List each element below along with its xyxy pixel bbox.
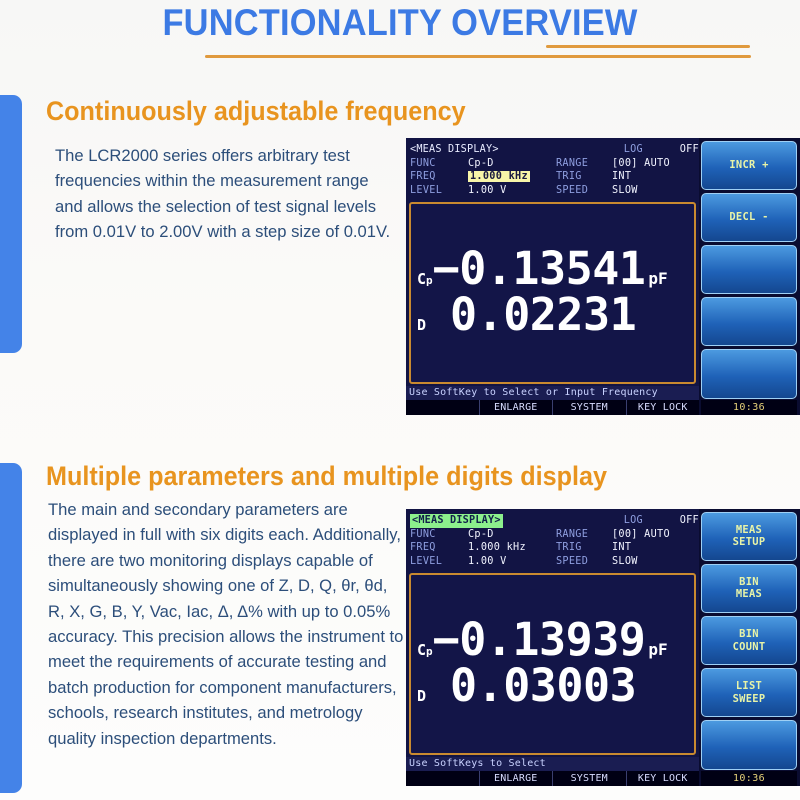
instrument-1-freq-value[interactable]: 1.000 kHz — [468, 171, 530, 182]
instrument-1-trig-value[interactable]: INT — [612, 170, 631, 184]
instrument-1-secondary-value: 0.02231 — [450, 290, 636, 340]
instrument-2-primary-unit: pF — [648, 640, 667, 659]
section-accent-bar-2 — [0, 463, 22, 793]
instrument-1-screen-title: <MEAS DISPLAY> — [410, 143, 499, 157]
instrument-1-trig-label: TRIG — [556, 170, 612, 184]
title-underline-short — [546, 45, 750, 48]
instrument-1-body: <MEAS DISPLAY> LOG OFF FUNC Cp-D RANGE [… — [406, 138, 800, 415]
instrument-2-secondary-value: 0.03003 — [450, 661, 636, 711]
section-2-body: The main and secondary parameters are di… — [48, 497, 408, 751]
instrument-1-speed-value[interactable]: SLOW — [612, 184, 638, 198]
instrument-2-softkey-5[interactable] — [701, 720, 797, 769]
instrument-2-speed-label: SPEED — [556, 555, 612, 569]
instrument-2-footer-system[interactable]: SYSTEM — [553, 771, 627, 786]
instrument-1-level-label: LEVEL — [410, 184, 468, 198]
slide-page: FUNCTIONALITY OVERVIEW Continuously adju… — [0, 0, 800, 800]
instrument-2-range-value[interactable]: [00] AUTO — [612, 528, 670, 542]
instrument-2-footer: ENLARGE SYSTEM KEY LOCK — [406, 771, 699, 786]
instrument-1-secondary-symbol: D — [417, 316, 426, 334]
instrument-2-trig-value[interactable]: INT — [612, 541, 631, 555]
instrument-2-log-label: LOG — [624, 514, 680, 528]
instrument-2-level-value[interactable]: 1.00 V — [468, 555, 556, 569]
instrument-2-body: <MEAS DISPLAY> LOG OFF FUNC Cp-D RANGE [… — [406, 509, 800, 786]
instrument-1-softkey-3[interactable] — [701, 245, 797, 294]
instrument-2-freq-value[interactable]: 1.000 kHz — [468, 541, 556, 555]
section-2-heading: Multiple parameters and multiple digits … — [46, 461, 607, 492]
instrument-1-primary-unit: pF — [648, 269, 667, 288]
instrument-1-footer: ENLARGE SYSTEM KEY LOCK — [406, 400, 699, 415]
section-accent-bar-1 — [0, 95, 22, 353]
instrument-2-footer-cell-1[interactable] — [406, 771, 480, 786]
instrument-2-range-label: RANGE — [556, 528, 612, 542]
instrument-1-softkey-1[interactable]: INCR + — [701, 141, 797, 190]
instrument-1-softkey-2[interactable]: DECL - — [701, 193, 797, 242]
instrument-2-func-label: FUNC — [410, 528, 468, 542]
instrument-1-range-label: RANGE — [556, 157, 612, 171]
instrument-1-footer-enlarge[interactable]: ENLARGE — [480, 400, 554, 415]
instrument-1-func-value[interactable]: Cp-D — [468, 157, 556, 171]
instrument-2-freq-label: FREQ — [410, 541, 468, 555]
instrument-1-func-label: FUNC — [410, 157, 468, 171]
instrument-1-primary-value: −0.13541 — [433, 244, 646, 294]
instrument-2-softkey-bin-count[interactable]: BINCOUNT — [701, 616, 797, 665]
instrument-1-level-value[interactable]: 1.00 V — [468, 184, 556, 198]
instrument-2-softkey-meas-setup[interactable]: MEASSETUP — [701, 512, 797, 561]
instrument-1-parameter-header: <MEAS DISPLAY> LOG OFF FUNC Cp-D RANGE [… — [406, 140, 699, 199]
title-underline-long — [205, 55, 751, 58]
instrument-2-footer-enlarge[interactable]: ENLARGE — [480, 771, 554, 786]
instrument-2-primary-value: −0.13939 — [433, 615, 646, 665]
instrument-1-footer-system[interactable]: SYSTEM — [553, 400, 627, 415]
instrument-1-softkey-5[interactable] — [701, 349, 797, 398]
instrument-1-footer-keylock[interactable]: KEY LOCK — [627, 400, 700, 415]
instrument-2-clock: 10:36 — [701, 771, 797, 786]
instrument-1-range-value[interactable]: [00] AUTO — [612, 157, 670, 171]
instrument-1-readout: Cp −0.13541 pF D 0.02231 — [409, 202, 696, 384]
instrument-1-log-value: OFF — [680, 143, 699, 157]
instrument-2-display-area: <MEAS DISPLAY> LOG OFF FUNC Cp-D RANGE [… — [406, 509, 699, 786]
instrument-1-footer-cell-1[interactable] — [406, 400, 480, 415]
instrument-2-softkey-bin-meas[interactable]: BINMEAS — [701, 564, 797, 613]
instrument-2-softkey-list-sweep[interactable]: LISTSWEEP — [701, 668, 797, 717]
instrument-2-trig-label: TRIG — [556, 541, 612, 555]
instrument-1-hint: Use SoftKey to Select or Input Frequency — [406, 386, 699, 400]
instrument-1-freq-label: FREQ — [410, 170, 468, 184]
section-1-body: The LCR2000 series offers arbitrary test… — [55, 143, 400, 245]
instrument-2-level-label: LEVEL — [410, 555, 468, 569]
instrument-1-clock: 10:36 — [701, 400, 797, 415]
instrument-2-readout: Cp −0.13939 pF D 0.03003 — [409, 573, 696, 755]
instrument-2-screen-title: <MEAS DISPLAY> — [410, 514, 503, 528]
instrument-screen-1: <MEAS DISPLAY> LOG OFF FUNC Cp-D RANGE [… — [406, 138, 800, 415]
instrument-screen-2: <MEAS DISPLAY> LOG OFF FUNC Cp-D RANGE [… — [406, 509, 800, 786]
instrument-1-log-label: LOG — [624, 143, 680, 157]
instrument-2-softkey-column: MEASSETUP BINMEAS BINCOUNT LISTSWEEP 10:… — [699, 509, 800, 786]
instrument-2-secondary-symbol: D — [417, 687, 426, 705]
instrument-2-log-value: OFF — [680, 514, 699, 528]
instrument-1-softkey-4[interactable] — [701, 297, 797, 346]
instrument-2-footer-keylock[interactable]: KEY LOCK — [627, 771, 700, 786]
instrument-2-func-value[interactable]: Cp-D — [468, 528, 556, 542]
instrument-2-speed-value[interactable]: SLOW — [612, 555, 638, 569]
instrument-2-hint: Use SoftKeys to Select — [406, 757, 699, 771]
instrument-1-primary-symbol: Cp — [417, 270, 433, 288]
section-1-heading: Continuously adjustable frequency — [46, 96, 466, 127]
instrument-1-display-area: <MEAS DISPLAY> LOG OFF FUNC Cp-D RANGE [… — [406, 138, 699, 415]
instrument-2-parameter-header: <MEAS DISPLAY> LOG OFF FUNC Cp-D RANGE [… — [406, 511, 699, 570]
instrument-1-speed-label: SPEED — [556, 184, 612, 198]
instrument-2-primary-symbol: Cp — [417, 641, 433, 659]
page-title: FUNCTIONALITY OVERVIEW — [28, 2, 772, 44]
instrument-1-softkey-column: INCR + DECL - 10:36 — [699, 138, 800, 415]
